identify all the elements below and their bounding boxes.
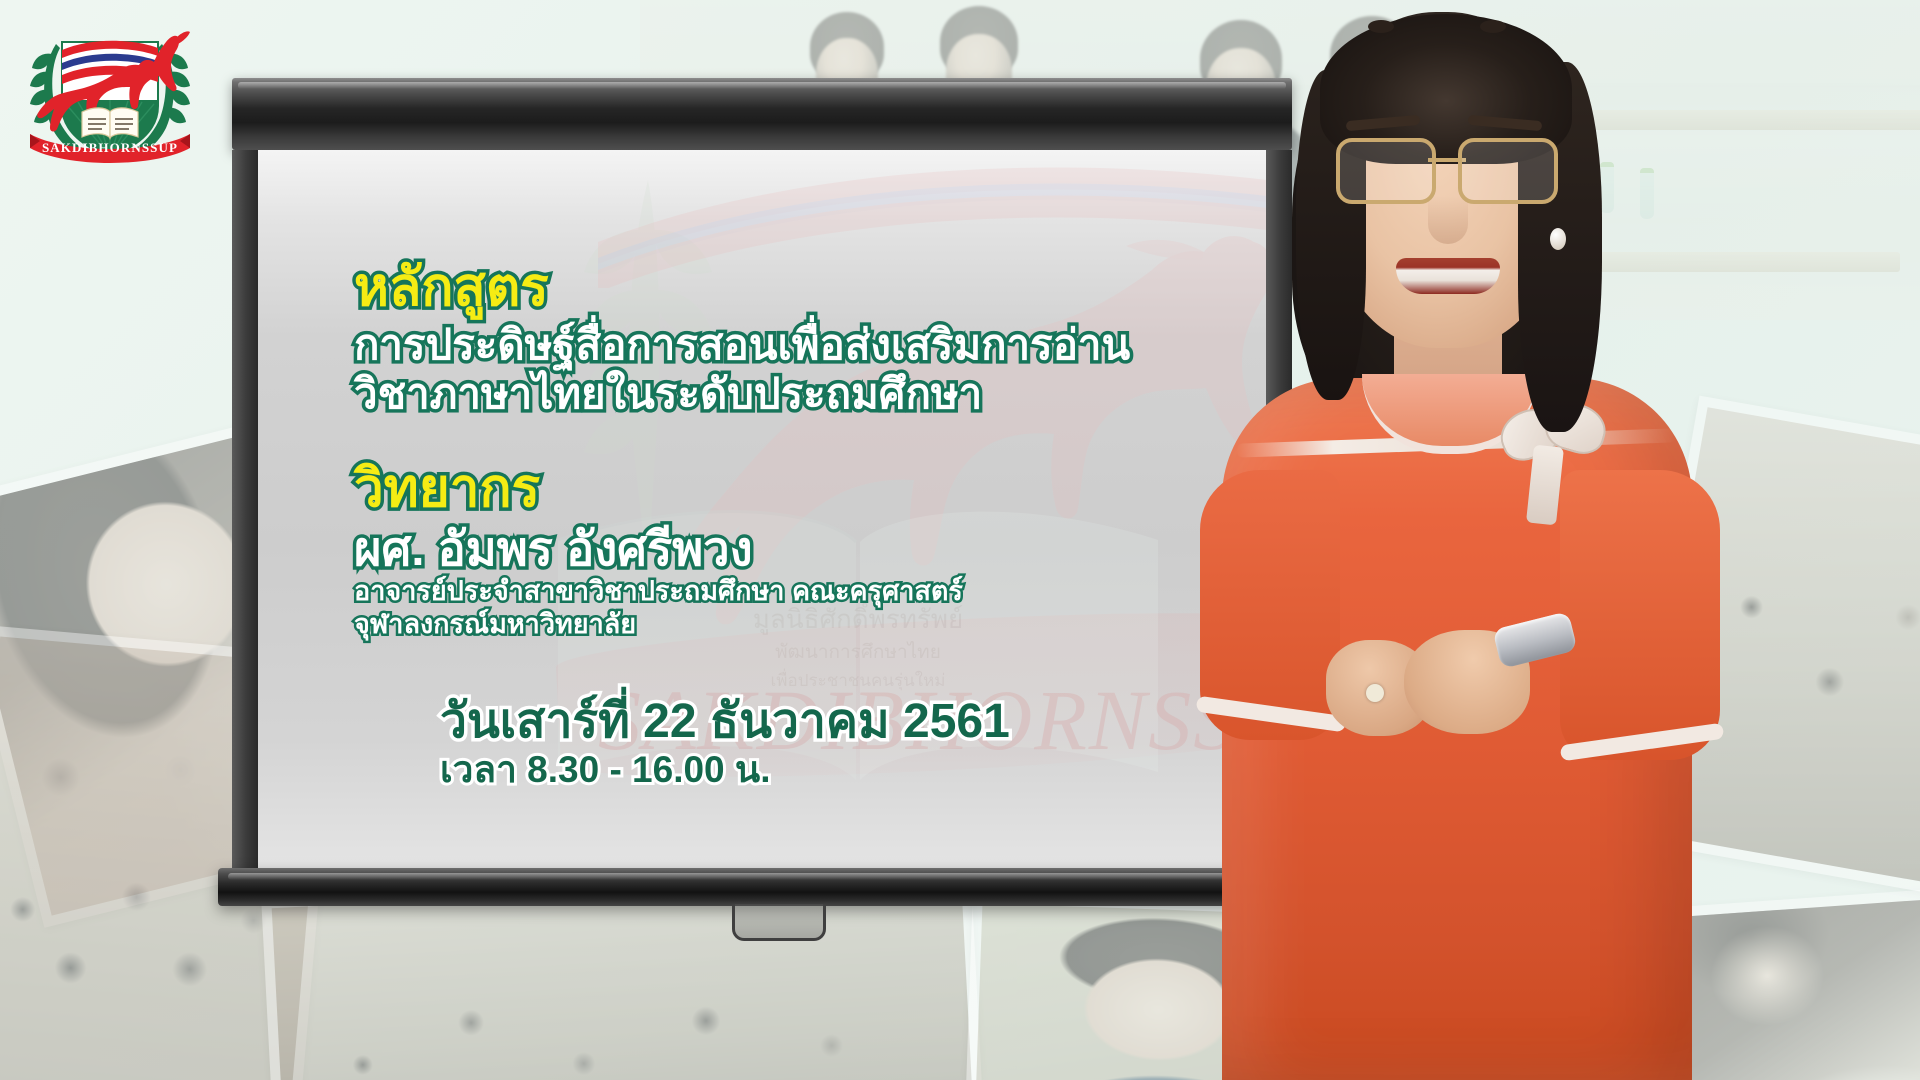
speaker-affiliation-line-2: จุฬาลงกรณ์มหาวิทยาลัย [354,608,1234,641]
course-title-line-1: การประดิษฐ์สื่อการสอนเพื่อส่งเสริมการอ่า… [354,321,1234,368]
screen-top-housing [232,78,1292,150]
screen-canvas: มูลนิธิศักดิ์พรทรัพย์ พัฒนาการศึกษาไทย เ… [258,150,1266,868]
crest-ribbon-label: SAKDIBHORNSSUP [42,140,178,155]
screen-bottom-weight-bar [218,868,1306,906]
course-block: หลักสูตร การประดิษฐ์สื่อการสอนเพื่อส่งเส… [354,258,1234,417]
seminar-poster: มูลนิธิศักดิ์พรทรัพย์ พัฒนาการศึกษาไทย เ… [0,0,1920,1080]
presenter-photo [1180,0,1740,1080]
speaker-heading: วิทยากร [354,459,1234,518]
course-title-line-2: วิชาภาษาไทยในระดับประถมศึกษา [354,370,1234,417]
event-time: เวลา 8.30 - 16.00 น. [440,749,1234,790]
course-heading: หลักสูตร [354,258,1234,317]
screen-frame-left [232,150,258,868]
slide-content: หลักสูตร การประดิษฐ์สื่อการสอนเพื่อส่งเส… [354,258,1234,790]
projector-screen-handle-icon[interactable] [732,904,826,941]
speaker-affiliation-line-1: อาจารย์ประจำสาขาวิชาประถมศึกษา คณะครุศาส… [354,575,1234,608]
presenter-glasses [1336,138,1558,196]
event-date: วันเสาร์ที่ 22 ธันวาคม 2561 [440,695,1234,749]
speaker-name: ผศ. อัมพร อังศรีพวง [354,523,1234,576]
school-crest-icon: SAKDIBHORNSSUP [26,8,194,168]
schedule-block: วันเสาร์ที่ 22 ธันวาคม 2561 เวลา 8.30 - … [440,695,1234,790]
projector-screen: มูลนิธิศักดิ์พรทรัพย์ พัฒนาการศึกษาไทย เ… [232,78,1292,904]
speaker-block: วิทยากร ผศ. อัมพร อังศรีพวง อาจารย์ประจำ… [354,459,1234,641]
